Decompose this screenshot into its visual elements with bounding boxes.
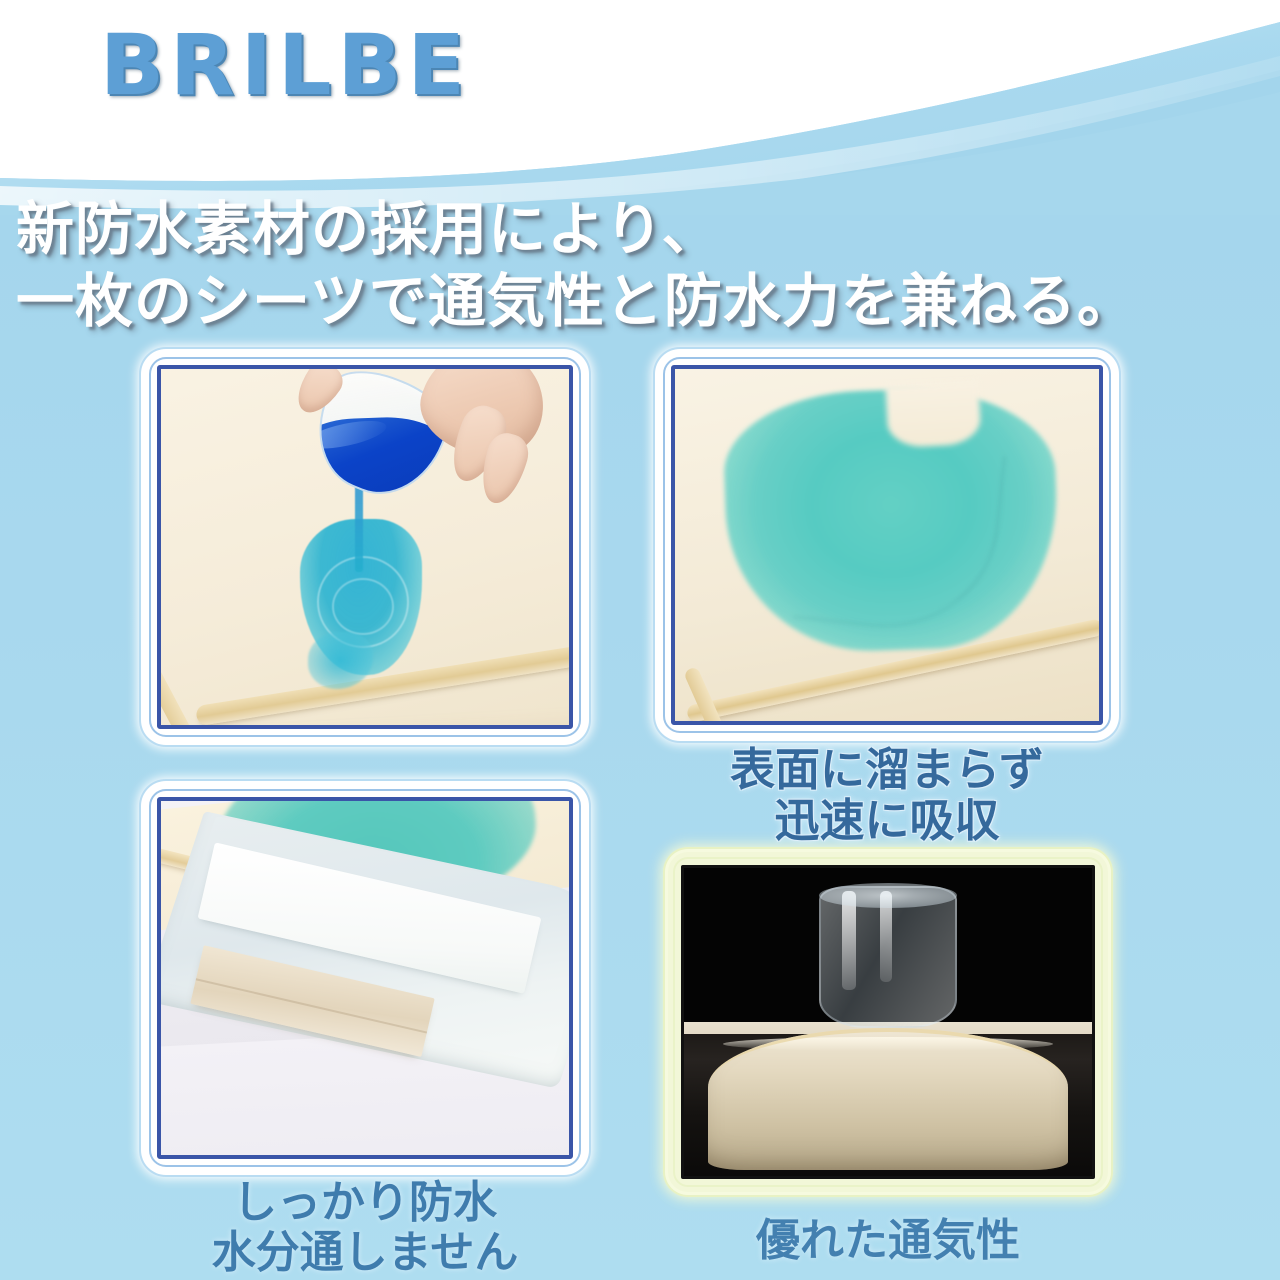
waterproof-caption-line-2: 水分通しません — [144, 1228, 586, 1278]
stain-notch — [885, 381, 981, 449]
glass-rim — [819, 883, 958, 908]
waterproof-backing-photo-frame — [144, 784, 586, 1172]
waterproof-backing-photo — [157, 797, 573, 1159]
brand-logo: BRILBE — [100, 16, 471, 114]
absorption-photo — [671, 365, 1103, 725]
headline-line-1: 新防水素材の採用により、 — [16, 196, 1136, 264]
breathability-caption: 優れた通気性 — [668, 1216, 1108, 1266]
breathability-photo-frame — [668, 852, 1108, 1192]
breathability-photo — [681, 865, 1095, 1179]
breathability-caption-line-1: 優れた通気性 — [668, 1216, 1108, 1266]
pour-stream — [355, 479, 363, 572]
absorption-caption-line-2: 迅速に吸収 — [658, 795, 1116, 846]
waterproof-caption: しっかり防水 水分通しません — [144, 1178, 586, 1278]
page-headline: 新防水素材の採用により、 一枚のシーツで通気性と防水力を兼ねる。 — [16, 196, 1136, 336]
absorption-caption-line-1: 表面に溜まらず — [658, 744, 1116, 795]
liquid-pour-photo-frame — [144, 352, 586, 742]
sheet-hem-edge — [708, 1028, 1067, 1170]
absorption-caption: 表面に溜まらず 迅速に吸収 — [658, 744, 1116, 847]
waterproof-caption-line-1: しっかり防水 — [144, 1178, 586, 1228]
absorption-photo-frame — [658, 352, 1116, 738]
headline-line-2: 一枚のシーツで通気性と防水力を兼ねる。 — [16, 268, 1136, 336]
product-infographic: BRILBE 新防水素材の採用により、 一枚のシーツで通気性と防水力を兼ねる。 — [0, 0, 1280, 1280]
liquid-pour-photo — [157, 365, 573, 729]
